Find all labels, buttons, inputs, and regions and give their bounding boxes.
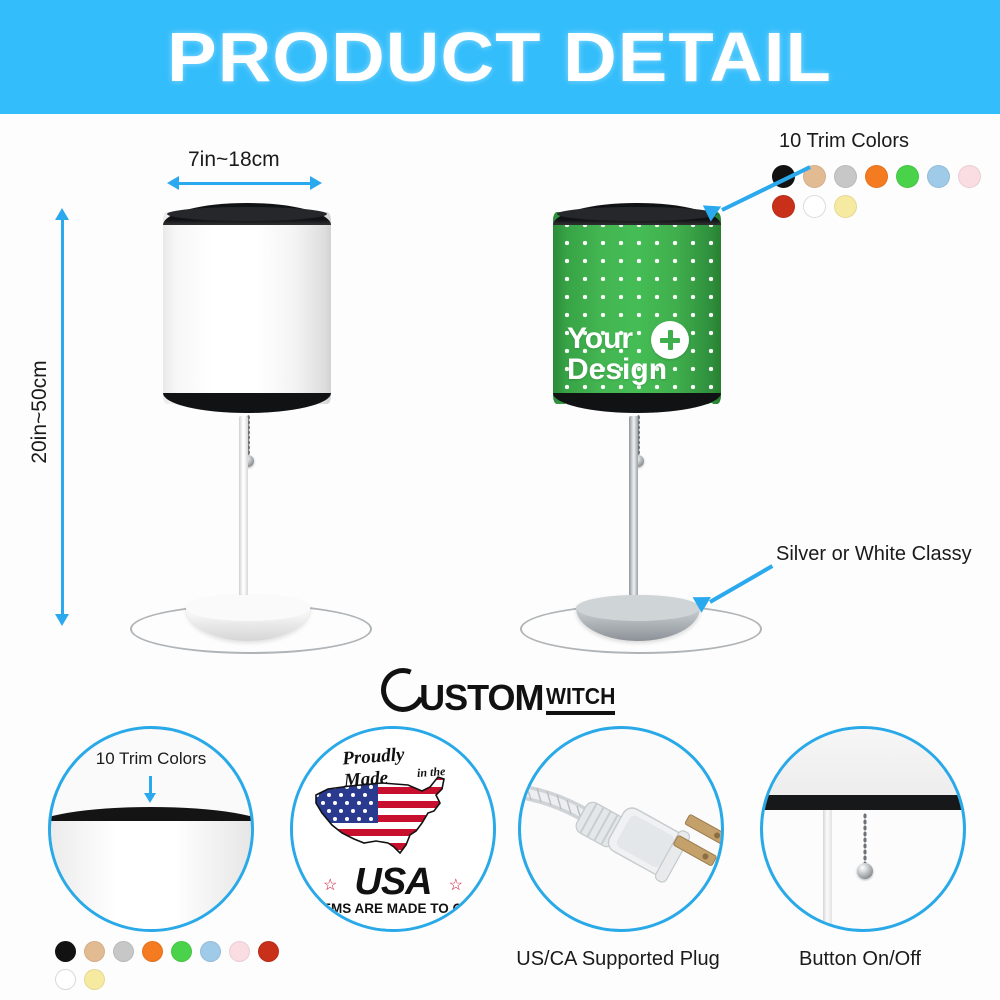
feature-made-in-usa: Proudly Made in the (290, 726, 496, 932)
lamp-base-top (576, 595, 700, 621)
base-finish-label: Silver or White Classy (776, 543, 972, 566)
plug-caption: US/CA Supported Plug (508, 948, 728, 971)
swatch-light-blue[interactable] (200, 941, 221, 962)
lamp-pole (239, 416, 248, 596)
design-text-line1: Your (567, 323, 717, 354)
feature-trim-colors: 10 Trim Colors (48, 726, 254, 932)
swatch-light-blue[interactable] (927, 165, 950, 188)
bottom-trim-color-swatches[interactable] (55, 941, 305, 997)
lampshade-white (163, 203, 331, 413)
swatch-yellow[interactable] (84, 969, 105, 990)
swatch-green[interactable] (896, 165, 919, 188)
button-caption: Button On/Off (760, 948, 960, 971)
usa-star-right-icon: ☆ (449, 875, 463, 895)
swatch-tan[interactable] (84, 941, 105, 962)
trim-top-icon (553, 203, 721, 225)
trim-pointer-arrow-icon (149, 776, 152, 794)
swatch-green[interactable] (171, 941, 192, 962)
height-dimension-arrow (55, 208, 69, 626)
usa-badge: Proudly Made in the (293, 729, 493, 929)
trim-bottom-icon (163, 393, 331, 413)
lamp-pole-closeup (823, 810, 832, 930)
feature-trim-colors-caption: 10 Trim Colors (96, 749, 207, 769)
usa-map-flag-icon (310, 773, 462, 863)
pull-chain-closeup[interactable] (863, 813, 867, 868)
trim-callout-arrow-icon (706, 176, 816, 216)
trim-top-icon (163, 203, 331, 225)
arrow-head-bottom-icon (55, 614, 69, 626)
lampshade-surface (163, 212, 331, 404)
swatch-gray[interactable] (113, 941, 134, 962)
power-plug-icon (521, 729, 721, 929)
swatch-gray[interactable] (834, 165, 857, 188)
swatch-white[interactable] (55, 969, 76, 990)
trim-bottom-icon (553, 393, 721, 413)
height-dimension-label: 20in~50cm (28, 347, 52, 477)
usa-word: USA (354, 861, 431, 904)
swatch-red[interactable] (258, 941, 279, 962)
lamp-white (163, 203, 333, 633)
width-dimension-arrow (167, 176, 322, 190)
trim-colors-heading: 10 Trim Colors (779, 130, 909, 153)
usa-star-left-icon: ☆ (323, 875, 337, 895)
swatch-pink[interactable] (229, 941, 250, 962)
arrow-shaft (61, 216, 64, 618)
swatch-black[interactable] (55, 941, 76, 962)
lampshade-closeup (48, 821, 254, 932)
plug-photo (521, 729, 721, 929)
lamp-pole (629, 416, 638, 596)
plus-icon[interactable] (651, 321, 689, 359)
trim-bottom-closeup (760, 795, 966, 810)
swatch-pink[interactable] (958, 165, 981, 188)
width-dimension-label: 7in~18cm (188, 148, 280, 172)
feature-button (760, 726, 966, 932)
logo-witch-text: WITCH (546, 683, 615, 715)
page-banner: PRODUCT DETAIL (0, 0, 1000, 114)
swatch-orange[interactable] (142, 941, 163, 962)
lamp-custom: Your Design (553, 203, 723, 633)
brand-logo: USTOM WITCH (0, 668, 1000, 717)
product-detail-page: PRODUCT DETAIL 7in~18cm 20in~50cm (0, 0, 1000, 1000)
lampshade-lower-closeup (760, 726, 966, 797)
base-finish-arrow-icon (700, 560, 780, 608)
arrow-head-right-icon (310, 176, 322, 190)
feature-plug (518, 726, 724, 932)
swatch-yellow[interactable] (834, 195, 857, 218)
page-title: PRODUCT DETAIL (168, 22, 833, 92)
arrow-shaft (175, 182, 314, 185)
usa-subtitle: ALL ITEMS ARE MADE TO ORDER! (290, 901, 496, 916)
logo-custom-text: USTOM (419, 681, 543, 715)
pull-chain-ball-closeup[interactable] (857, 863, 873, 879)
lampshade-custom: Your Design (553, 203, 721, 413)
swatch-orange[interactable] (865, 165, 888, 188)
design-text-line2: Design (567, 354, 717, 385)
lamp-base-top (186, 595, 310, 621)
